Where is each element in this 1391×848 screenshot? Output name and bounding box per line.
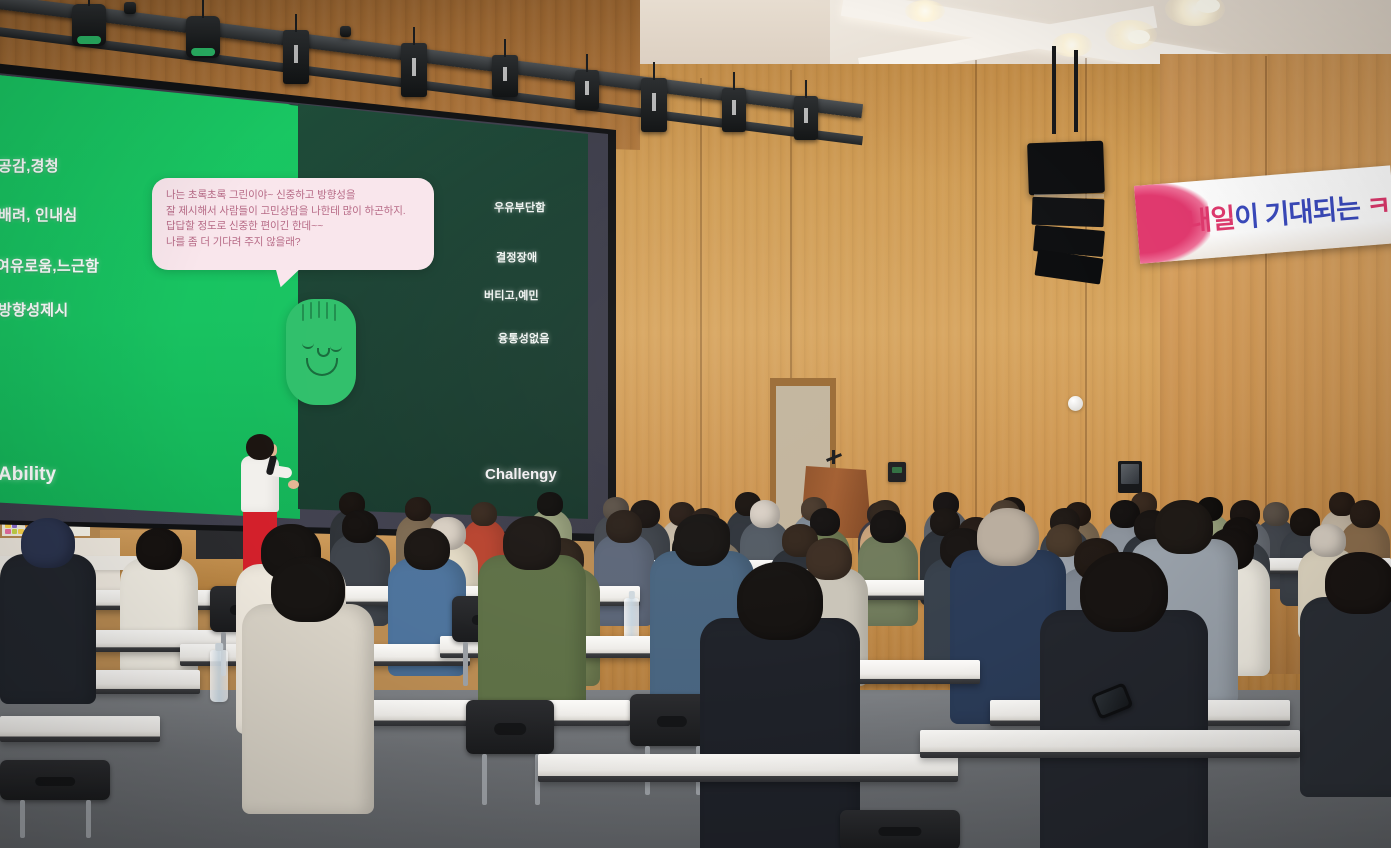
ceiling-downlight-glow xyxy=(1052,33,1092,57)
banner-text-pink: 내일 xyxy=(1186,203,1236,237)
stage-light xyxy=(124,2,136,14)
audience-member-head xyxy=(1325,552,1391,614)
speech-bubble-line-3: 답답할 정도로 신중한 편이긴 한데~~ xyxy=(166,219,428,235)
slide-trait-right-2: 결정장애 xyxy=(496,249,537,265)
speech-bubble-line-1: 나는 초록초록 그린이야~ 신중하고 방향성을 xyxy=(166,188,428,204)
stage-light xyxy=(340,26,351,37)
audience-member xyxy=(242,556,374,832)
presenter-head xyxy=(246,434,274,460)
presenter-hand xyxy=(288,480,299,489)
chair-leg xyxy=(86,800,91,838)
chair[interactable] xyxy=(0,760,110,800)
banner-text-blue-1: 이 xyxy=(1233,201,1259,233)
audience-member xyxy=(1300,552,1391,814)
chair-leg xyxy=(463,642,468,686)
audience-member-head xyxy=(737,562,823,640)
audience-member-head xyxy=(606,510,642,543)
line-array-speaker-module xyxy=(1032,197,1105,227)
chair[interactable] xyxy=(466,700,554,754)
audience-member-head xyxy=(342,510,378,543)
stage-light xyxy=(575,70,599,110)
slide-left-title: Ability xyxy=(0,464,56,486)
speech-bubble-tail xyxy=(271,260,306,289)
audience-member-head xyxy=(503,516,561,570)
speech-bubble-line-4: 나를 좀 더 기다려 주지 않을래? xyxy=(166,235,428,251)
audience-member-body xyxy=(478,555,586,723)
audience-member-head xyxy=(674,514,730,566)
ceiling-dome-sensor-icon xyxy=(1068,396,1083,411)
audience-member-head xyxy=(271,556,345,622)
audience-member-body xyxy=(0,554,96,704)
audience-member-head xyxy=(1080,552,1168,632)
ceiling-downlight xyxy=(1128,30,1150,44)
stage-light xyxy=(401,43,427,97)
chair-handle-slot xyxy=(35,777,75,786)
slide-trait-left-1: 공감,경청 xyxy=(0,155,59,176)
audience-member-head xyxy=(404,528,450,570)
chair-leg xyxy=(20,800,25,838)
audience-member-body xyxy=(1300,597,1391,797)
audience-member xyxy=(700,562,860,848)
audience-member xyxy=(0,518,96,718)
chair-handle-slot xyxy=(657,716,687,727)
slide-trait-right-4: 융통성없음 xyxy=(498,330,550,346)
chair-handle-slot xyxy=(494,723,526,735)
slide-right-title: Challengy xyxy=(485,466,557,483)
stage-light xyxy=(722,88,746,132)
audience-member-head xyxy=(21,518,75,568)
control-panel-screen xyxy=(892,467,902,473)
ceiling-downlight-glow xyxy=(905,0,945,22)
chair[interactable] xyxy=(840,810,960,848)
speaker-hanging-rod xyxy=(1074,50,1078,132)
audience-member-head xyxy=(870,510,906,543)
chair-handle-slot xyxy=(878,827,921,836)
slide-trait-left-2: 배려, 인내심 xyxy=(0,204,77,225)
stage-light xyxy=(72,4,106,46)
audience-member-head xyxy=(977,508,1039,566)
stage-light xyxy=(283,30,309,84)
desk xyxy=(920,730,1300,758)
chair-leg xyxy=(482,754,487,805)
stage-light xyxy=(794,96,818,140)
slide-trait-left-4: 방향성제시 xyxy=(0,299,69,320)
lecture-hall-photo: 내일이 기대되는 ㅋ 공감,경청 배려, 인내심 여유로움,느근함 방향성제시 … xyxy=(0,0,1391,848)
stage-light xyxy=(641,78,667,132)
av-control-panel[interactable] xyxy=(888,462,906,482)
line-array-speaker-top xyxy=(1027,141,1105,196)
audience-member-head xyxy=(136,528,182,570)
slide-trait-left-3: 여유로움,느근함 xyxy=(0,255,99,276)
audience-member-body xyxy=(1040,610,1208,848)
desk xyxy=(538,754,958,782)
banner-text: 내일이 기대되는 ㅋ xyxy=(1185,184,1391,239)
stage-light xyxy=(186,16,220,58)
monitor-screen xyxy=(1121,464,1139,484)
desk xyxy=(0,716,160,742)
audience-member-body xyxy=(242,604,374,814)
banner-text-blue-2: 기대되는 xyxy=(1257,192,1367,231)
speech-bubble-line-2: 잘 제시해서 사람들이 고민상담을 나한테 많이 하곤하지. xyxy=(166,204,428,220)
speaker-hanging-rod xyxy=(1052,46,1056,134)
speech-bubble-text: 나는 초록초록 그린이야~ 신중하고 방향성을 잘 제시해서 사람들이 고민상담… xyxy=(166,188,428,250)
audience-member-body xyxy=(700,618,860,848)
stage-light xyxy=(492,55,518,97)
audience-member-head xyxy=(537,492,563,516)
audience-member-head xyxy=(1155,500,1213,554)
wall-mounted-monitor[interactable] xyxy=(1118,461,1142,493)
water-bottle[interactable] xyxy=(210,650,228,702)
slide-trait-right-3: 버티고,예민 xyxy=(484,287,539,303)
slide-trait-right-1: 우유부단함 xyxy=(494,199,546,215)
banner-text-pink-cutoff: ㅋ xyxy=(1365,191,1391,223)
